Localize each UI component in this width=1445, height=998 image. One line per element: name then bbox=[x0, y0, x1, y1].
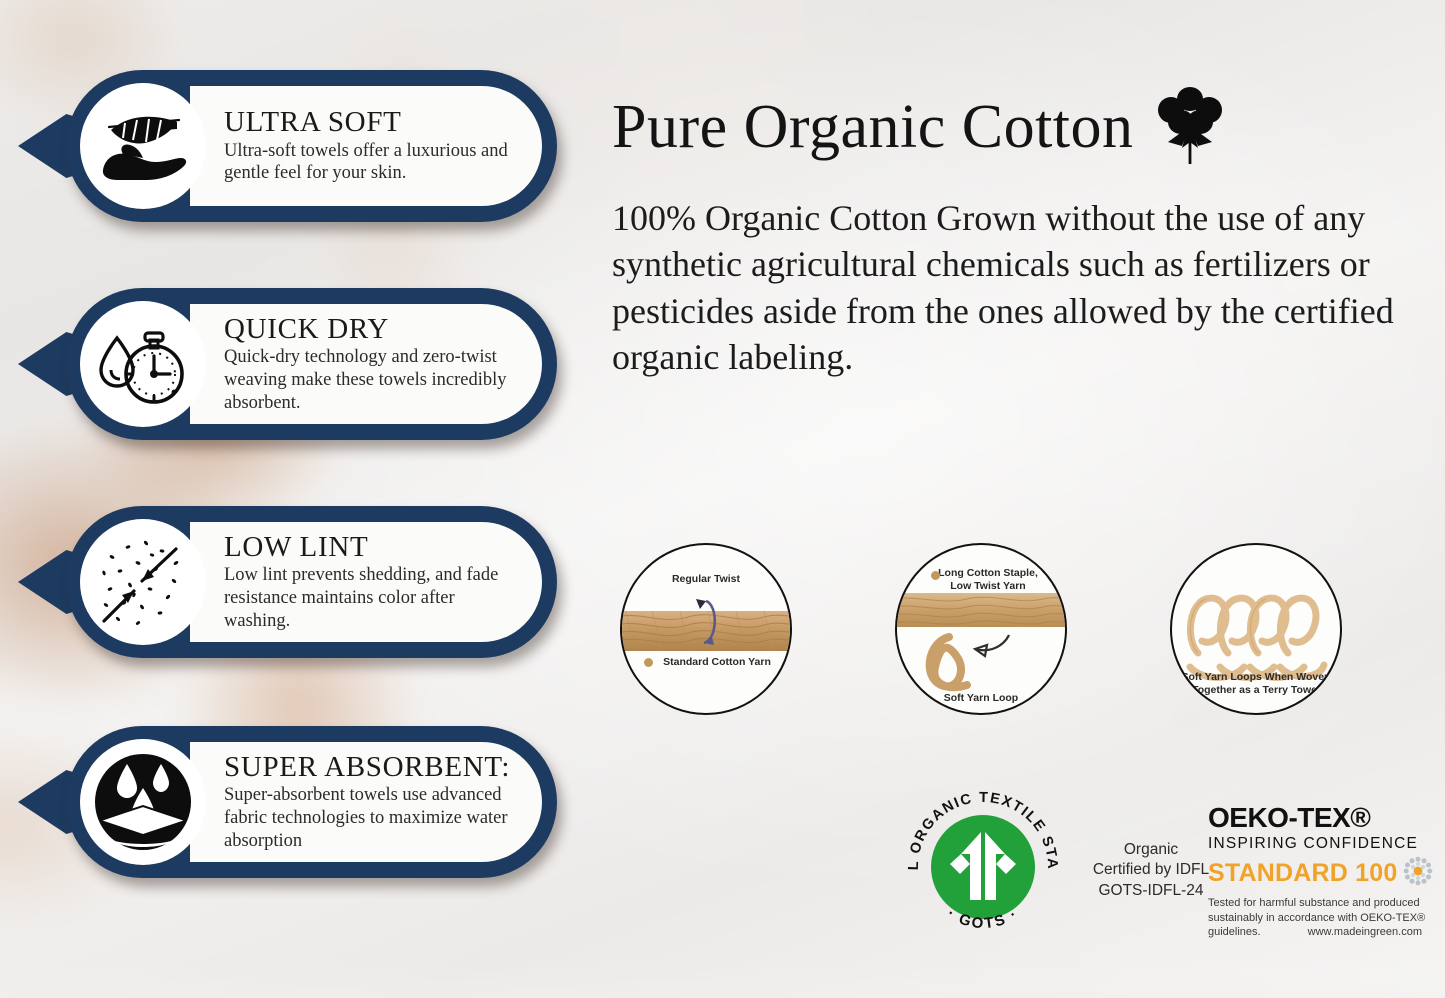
feature-description: Super-absorbent towels use advanced fabr… bbox=[224, 784, 516, 852]
oeko-tex-url: www.madeingreen.com bbox=[1308, 926, 1422, 938]
yarn-bottom-label: Soft Yarn Loop bbox=[897, 692, 1065, 705]
feature-description: Ultra-soft towels offer a luxurious and … bbox=[224, 140, 516, 185]
feature-card-quick-dry[interactable]: QUICK DRY Quick-dry technology and zero-… bbox=[14, 288, 557, 440]
yarn-diagram-row: Regular Twist Standard Cotton Yarn bbox=[612, 543, 1427, 723]
feature-title: QUICK DRY bbox=[224, 314, 516, 344]
certification-row: GLOBAL ORGANIC TEXTILE STANDARD · GOTS ·… bbox=[890, 778, 1435, 958]
water-absorption-fabric-icon bbox=[80, 739, 206, 865]
feature-card-list: ULTRA SOFT Ultra-soft towels offer a lux… bbox=[14, 70, 574, 900]
feature-card-low-lint[interactable]: LOW LINT Low lint prevents shedding, and… bbox=[14, 506, 557, 658]
feather-in-hand-icon bbox=[80, 83, 206, 209]
headline-row: Pure Organic Cotton bbox=[612, 86, 1427, 169]
idfl-line-1: Organic bbox=[1076, 840, 1226, 860]
feature-title: ULTRA SOFT bbox=[224, 107, 516, 137]
yarn-top-label: Regular Twist bbox=[622, 573, 790, 586]
oeko-tex-subtitle: INSPIRING CONFIDENCE bbox=[1208, 835, 1436, 853]
card-text-panel: LOW LINT Low lint prevents shedding, and… bbox=[190, 522, 542, 642]
card-text-panel: ULTRA SOFT Ultra-soft towels offer a lux… bbox=[190, 86, 542, 206]
oeko-tex-standard: STANDARD 100 bbox=[1208, 861, 1397, 886]
idfl-line-3: GOTS-IDFL-24 bbox=[1076, 881, 1226, 901]
hero-body-text: 100% Organic Cotton Grown without the us… bbox=[612, 195, 1412, 381]
yarn-diagram-low-twist: Long Cotton Staple, Low Twist Yarn Soft … bbox=[895, 543, 1067, 715]
page-title: Pure Organic Cotton bbox=[612, 92, 1134, 163]
yarn-diagram-terry-loops: Soft Yarn Loops When Woven Together as a… bbox=[1170, 543, 1342, 715]
yarn-diagram-regular-twist: Regular Twist Standard Cotton Yarn bbox=[620, 543, 792, 715]
oeko-tex-standard-row: STANDARD 100 bbox=[1208, 856, 1436, 891]
idfl-line-2: Certified by IDFL bbox=[1076, 860, 1226, 880]
yarn-top-label: Long Cotton Staple, Low Twist Yarn bbox=[897, 567, 1065, 593]
hero-section: Pure Organic Cotton 100% Organic Cotton … bbox=[612, 86, 1427, 381]
gots-certification-badge: GLOBAL ORGANIC TEXTILE STANDARD · GOTS · bbox=[898, 782, 1068, 952]
lint-particles-arrows-icon bbox=[80, 519, 206, 645]
oeko-tex-fine-print: Tested for harmful substance and produce… bbox=[1208, 896, 1436, 940]
card-text-panel: QUICK DRY Quick-dry technology and zero-… bbox=[190, 304, 542, 424]
oeko-tex-certification: OEKO-TEX® INSPIRING CONFIDENCE STANDARD … bbox=[1208, 804, 1436, 940]
oeko-tex-title: OEKO-TEX® bbox=[1208, 804, 1436, 832]
cotton-boll-icon bbox=[1152, 86, 1228, 169]
droplet-stopwatch-icon bbox=[80, 301, 206, 427]
idfl-certification-text: Organic Certified by IDFL GOTS-IDFL-24 bbox=[1076, 840, 1226, 901]
yarn-legend-dot bbox=[931, 571, 940, 580]
feature-title: LOW LINT bbox=[224, 532, 516, 562]
feature-card-super-absorbent[interactable]: SUPER ABSORBENT: Super-absorbent towels … bbox=[14, 726, 557, 878]
feature-description: Quick-dry technology and zero-twist weav… bbox=[224, 346, 516, 414]
feature-title: SUPER ABSORBENT: bbox=[224, 752, 516, 782]
feature-description: Low lint prevents shedding, and fade res… bbox=[224, 564, 516, 632]
made-in-green-flower-icon bbox=[1403, 856, 1433, 891]
feature-card-ultra-soft[interactable]: ULTRA SOFT Ultra-soft towels offer a lux… bbox=[14, 70, 557, 222]
yarn-bottom-label: Soft Yarn Loops When Woven Together as a… bbox=[1172, 671, 1340, 697]
card-text-panel: SUPER ABSORBENT: Super-absorbent towels … bbox=[190, 742, 542, 862]
yarn-bottom-label: Standard Cotton Yarn bbox=[622, 656, 790, 669]
